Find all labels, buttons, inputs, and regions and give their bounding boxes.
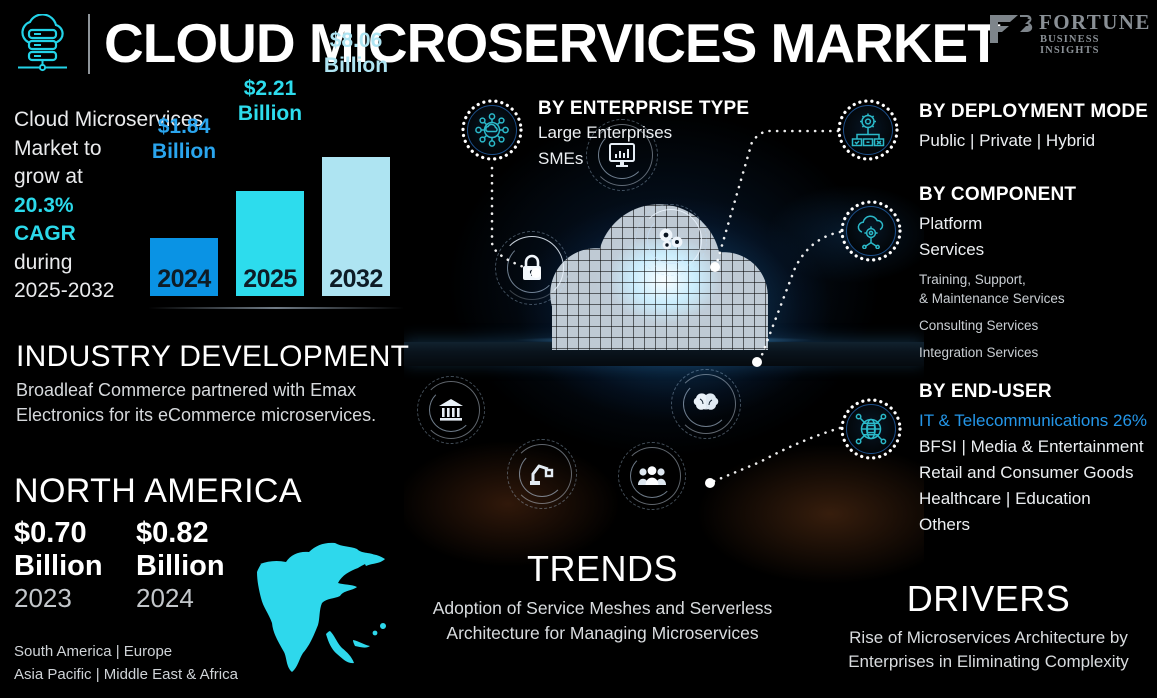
deployment-mode-items: Public | Private | Hybrid <box>919 128 1157 154</box>
globe-network-icon <box>846 404 896 454</box>
brand-subtitle: BUSINESS INSIGHTS <box>1040 34 1149 56</box>
component-heading: BY COMPONENT <box>919 184 1157 206</box>
na-figure-2023: $0.70 Billion 2023 <box>14 517 103 614</box>
bar-2032-fill: 2032 <box>322 157 390 296</box>
drivers-section: DRIVERS Rise of Microservices Architectu… <box>820 578 1157 674</box>
enterprise-item-large: Large Enterprises <box>538 120 838 146</box>
header: CLOUD MICROSERVICES MARKET FORTUNE BUSIN… <box>0 0 1157 86</box>
regions-line-2: Asia Pacific | Middle East & Africa <box>14 663 238 686</box>
cagr-label: CAGR <box>14 222 76 245</box>
end-user-heading: BY END-USER <box>919 381 1157 403</box>
drivers-heading: DRIVERS <box>820 578 1157 620</box>
component-item-platform: Platform <box>919 211 1157 237</box>
forecast-period: 2025-2032 <box>14 279 114 302</box>
enterprise-type-badge <box>461 99 523 161</box>
deployment-mode-heading: BY DEPLOYMENT MODE <box>919 101 1157 123</box>
brain-icon <box>676 374 736 434</box>
page-title: CLOUD MICROSERVICES MARKET <box>104 12 1000 74</box>
enterprise-item-smes: SMEs <box>538 146 838 172</box>
bar-2032-value: $8.06Billion <box>316 28 396 78</box>
enterprise-type-section: BY ENTERPRISE TYPE Large Enterprises SME… <box>538 98 838 172</box>
component-item-services: Services <box>919 237 1157 263</box>
regions-line-1: South America | Europe <box>14 640 238 663</box>
robot-arm-glyph <box>529 462 555 486</box>
na-unit-2023: Billion <box>14 550 103 583</box>
trends-body: Adoption of Service Meshes and Serverles… <box>430 596 775 646</box>
bar-2025-value: $2.21Billion <box>230 76 310 126</box>
cagr-value: 20.3% <box>14 194 74 217</box>
bar-group: $1.84Billion 2024 $2.21Billion 2025 $8.0… <box>150 96 404 302</box>
bar-2024: $1.84Billion 2024 <box>150 172 218 296</box>
cloud-server-icon <box>10 14 76 76</box>
industry-heading: INDUSTRY DEVELOPMENT <box>16 340 436 374</box>
deployment-mode-badge <box>837 99 899 161</box>
component-sub-training: Training, Support,& Maintenance Services <box>919 270 1157 308</box>
end-user-item-healthcare: Healthcare | Education <box>919 486 1157 512</box>
bar-2025: $2.21Billion 2025 <box>236 136 304 296</box>
market-size-chart: Cloud Microservices Market to grow at 20… <box>0 96 404 311</box>
deployment-mode-section: BY DEPLOYMENT MODE Public | Private | Hy… <box>919 101 1157 154</box>
gear-hierarchy-icon <box>843 105 893 155</box>
gears-icon <box>640 209 702 271</box>
na-year-2023: 2023 <box>14 583 103 614</box>
na-unit-2024: Billion <box>136 550 225 583</box>
component-section: BY COMPONENT Platform Services Training,… <box>919 184 1157 362</box>
robot-arm-icon <box>512 444 572 504</box>
end-user-badge <box>840 398 902 460</box>
enterprise-type-heading: BY ENTERPRISE TYPE <box>538 98 838 120</box>
header-divider <box>88 14 90 74</box>
na-amount-2024: $0.82 <box>136 517 225 550</box>
component-sub-consulting: Consulting Services <box>919 316 1157 335</box>
cloud-network-icon <box>467 105 517 155</box>
industry-body: Broadleaf Commerce partnered with Emax E… <box>16 378 436 428</box>
end-user-section: BY END-USER IT & Telecommunications 26% … <box>919 381 1157 538</box>
lock-glyph <box>519 254 545 282</box>
end-user-item-others: Others <box>919 512 1157 538</box>
people-glyph <box>637 466 667 486</box>
intro-line-2: Market to <box>14 137 102 160</box>
na-year-2024: 2024 <box>136 583 225 614</box>
na-figure-2024: $0.82 Billion 2024 <box>136 517 225 614</box>
component-badge <box>840 200 902 262</box>
end-user-item-bfsi: BFSI | Media & Entertainment <box>919 434 1157 460</box>
end-user-item-retail: Retail and Consumer Goods <box>919 460 1157 486</box>
infographic-page: CLOUD MICROSERVICES MARKET FORTUNE BUSIN… <box>0 0 1157 698</box>
north-america-section: NORTH AMERICA $0.70 Billion 2023 $0.82 B… <box>14 472 414 617</box>
trends-heading: TRENDS <box>430 548 775 590</box>
bank-glyph <box>438 398 464 422</box>
other-regions: South America | Europe Asia Pacific | Mi… <box>14 640 238 686</box>
drivers-body: Rise of Microservices Architecture by En… <box>820 626 1157 674</box>
fortune-business-insights-logo: FORTUNE BUSINESS INSIGHTS <box>987 10 1149 52</box>
bar-2025-fill: 2025 <box>236 191 304 296</box>
cloud-chip-icon <box>846 206 896 256</box>
gears-glyph <box>655 226 687 254</box>
brand-name: FORTUNE <box>1039 10 1151 35</box>
fb-monogram-icon <box>987 12 1033 46</box>
component-sub-integration: Integration Services <box>919 343 1157 362</box>
chart-baseline <box>148 307 404 309</box>
people-group-icon <box>623 447 681 505</box>
brain-glyph <box>691 392 721 416</box>
end-user-highlight: IT & Telecommunications 26% <box>919 408 1157 434</box>
intro-line-3: grow at <box>14 165 83 188</box>
bar-2025-year: 2025 <box>236 265 304 294</box>
bar-2024-value: $1.84Billion <box>144 114 224 164</box>
lock-icon <box>500 236 564 300</box>
bar-2024-year: 2024 <box>150 265 218 294</box>
bar-2032: $8.06Billion 2032 <box>322 90 390 296</box>
bar-2032-year: 2032 <box>322 265 390 294</box>
industry-development-section: INDUSTRY DEVELOPMENT Broadleaf Commerce … <box>16 340 436 428</box>
na-amount-2023: $0.70 <box>14 517 103 550</box>
north-america-map-icon <box>257 530 402 675</box>
trends-section: TRENDS Adoption of Service Meshes and Se… <box>430 548 775 646</box>
north-america-heading: NORTH AMERICA <box>14 472 414 511</box>
intro-line-4: during <box>14 251 72 274</box>
bar-2024-fill: 2024 <box>150 238 218 296</box>
